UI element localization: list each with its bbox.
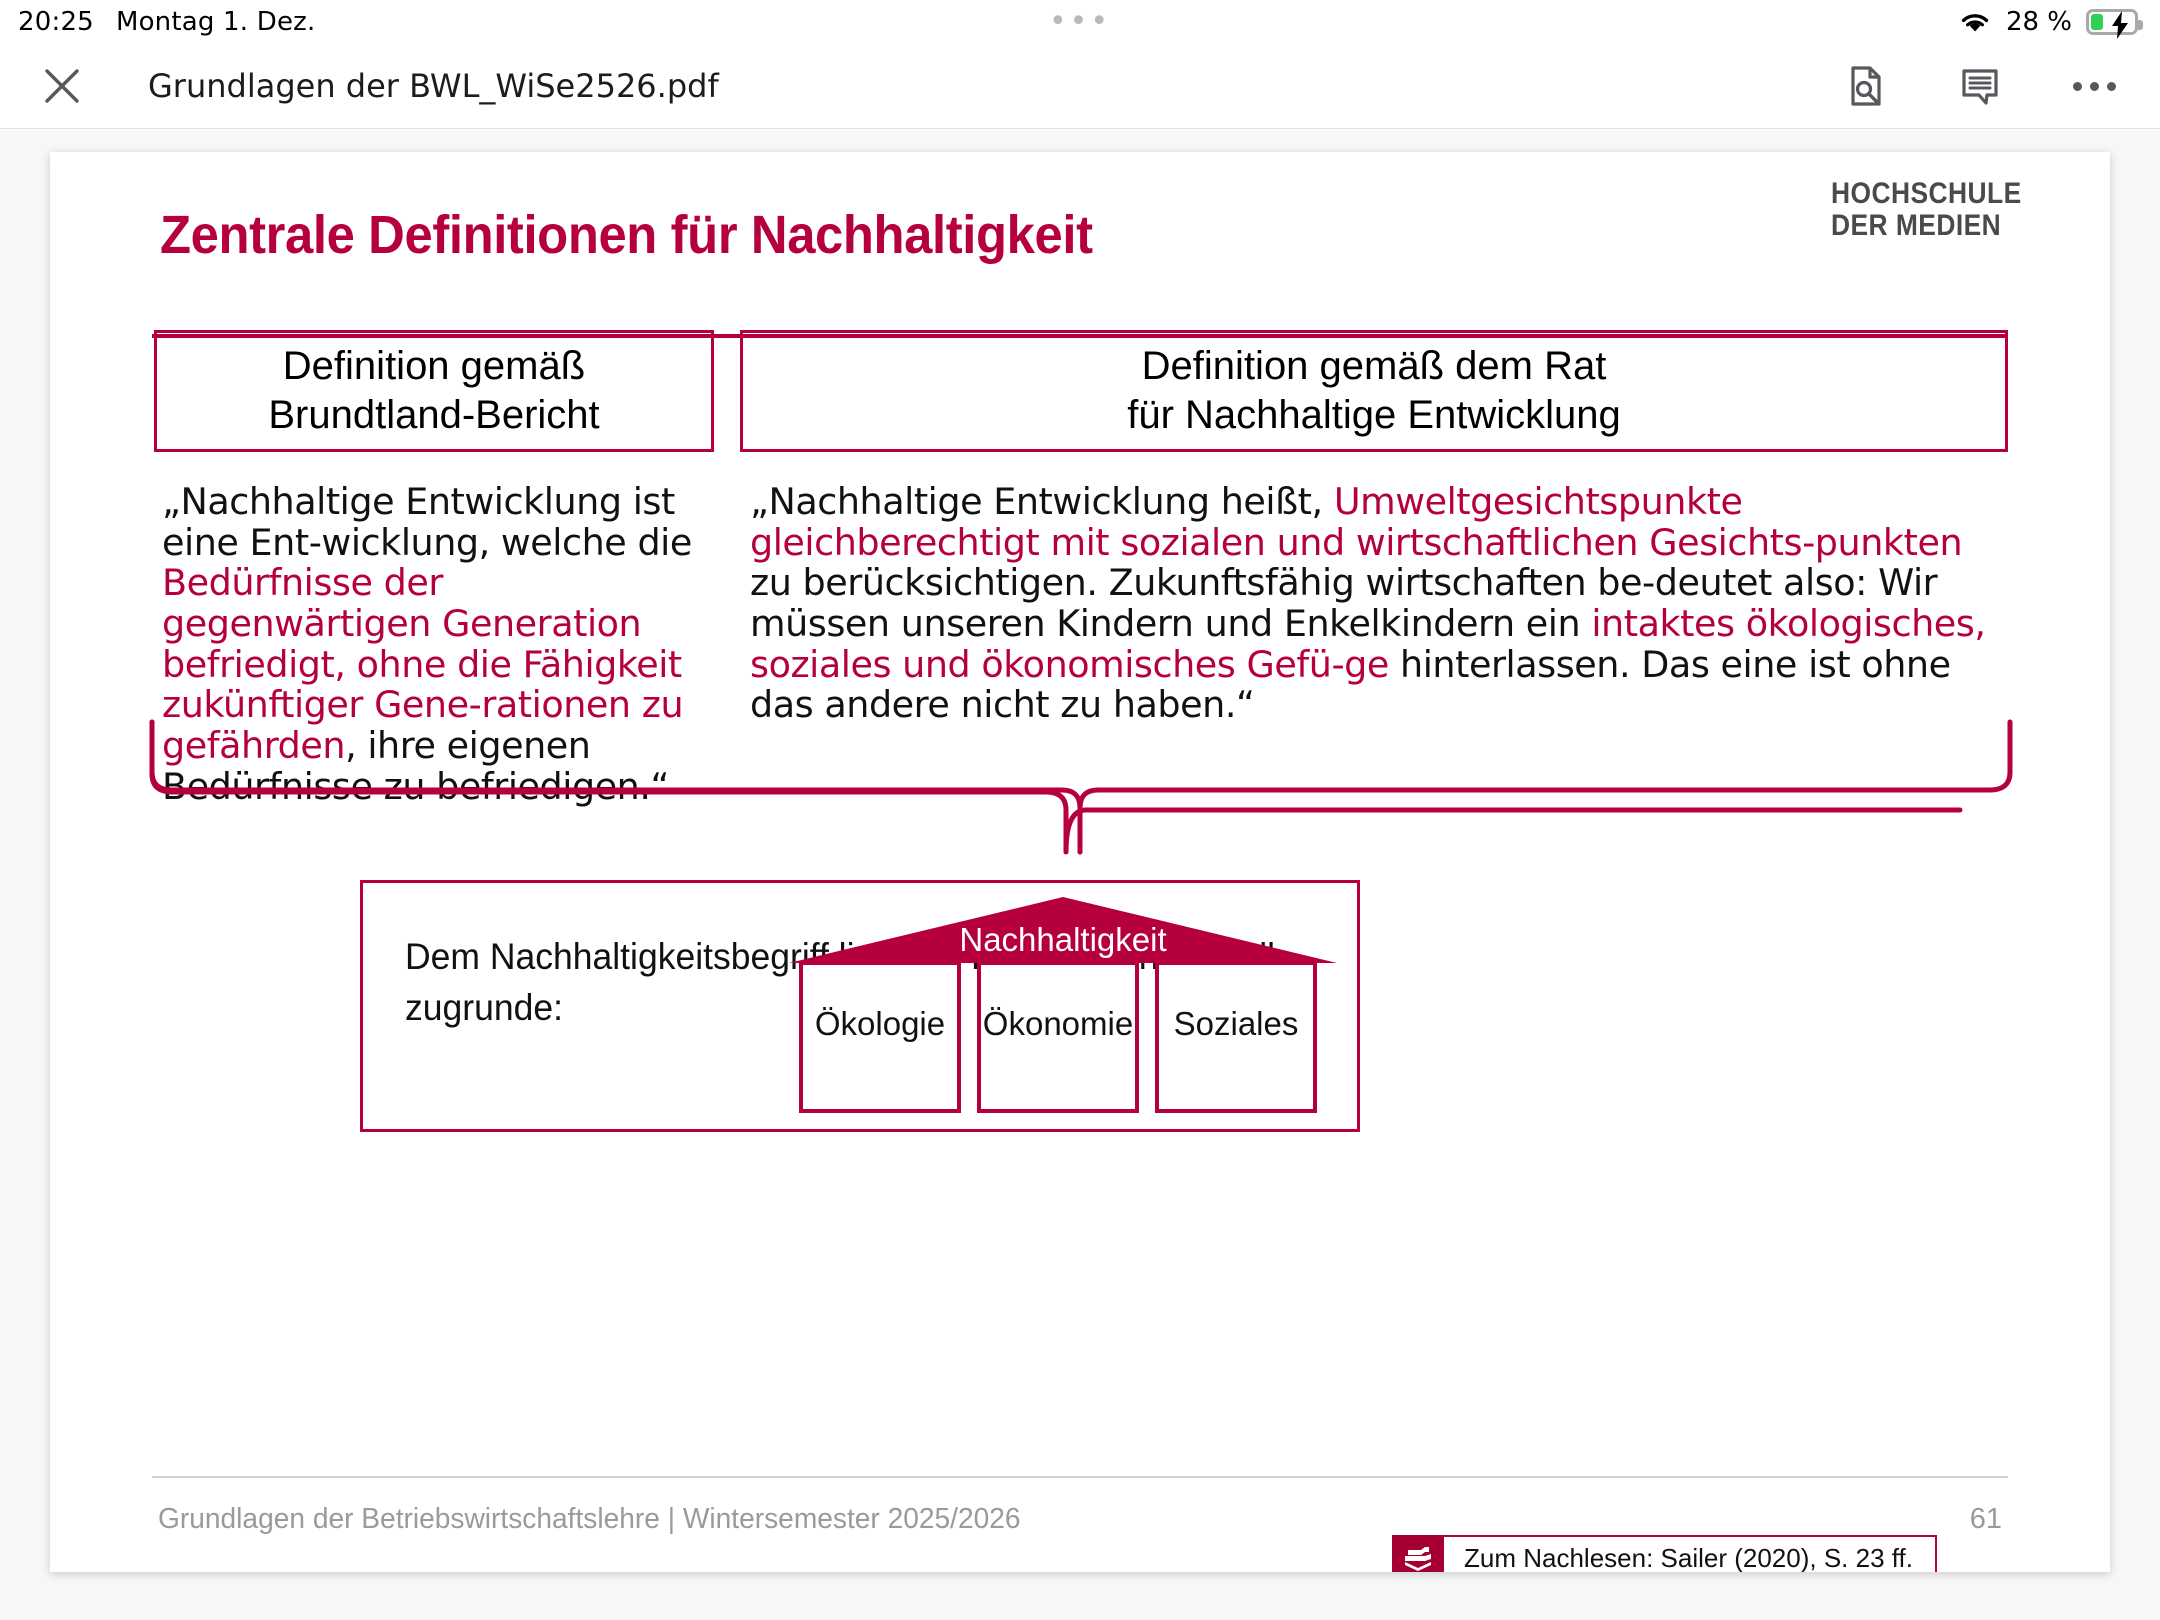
definition-header-rat: Definition gemäß dem Rat für Nachhaltige… <box>740 330 2008 452</box>
quote-left-seg-0: „Nachhaltige Entwicklung ist eine Ent-wi… <box>162 480 692 564</box>
footer-page-number: 61 <box>1970 1503 2002 1536</box>
hdm-logo-line2: DER MEDIEN <box>1831 210 2022 242</box>
definition-header-brundtland: Definition gemäß Brundtland-Bericht <box>154 330 714 452</box>
battery-fill <box>2091 14 2103 30</box>
status-bar-right: 28 % <box>1958 7 2138 37</box>
quote-right-seg-0: „Nachhaltige Entwicklung heißt, <box>750 480 1334 523</box>
pillar-label-soziales: Soziales <box>1157 1005 1315 1043</box>
drei-saeulen-model-box: Dem Nachhaltigkeitsbegriff liegt ein Dre… <box>360 880 1360 1132</box>
defbox-right-line1: Definition gemäß dem Rat <box>1142 344 1607 388</box>
citation-text: Zum Nachlesen: Sailer (2020), S. 23 ff. <box>1444 1535 1937 1572</box>
pdf-viewer-header: Grundlagen der BWL_WiSe2526.pdf <box>0 44 2160 129</box>
pillar-label-oekologie: Ökologie <box>801 1005 959 1043</box>
document-search-icon <box>1844 64 1888 108</box>
pdf-page-scroll-area[interactable]: HOCHSCHULE DER MEDIEN Zentrale Definitio… <box>0 130 2160 1620</box>
more-options-icon <box>2073 82 2116 91</box>
battery-charging-icon <box>2086 9 2138 35</box>
header-toolbar <box>1842 62 2118 110</box>
wifi-icon <box>1958 9 1992 35</box>
more-options-button[interactable] <box>2070 62 2118 110</box>
slide-title: Zentrale Definitionen für Nachhaltigkeit <box>160 204 1093 266</box>
ios-status-bar: 20:25 Montag 1. Dez. ••• 28 % <box>0 0 2160 44</box>
battery-percent-label: 28 % <box>2006 7 2072 37</box>
footer-divider <box>152 1476 2008 1478</box>
close-icon <box>41 65 83 107</box>
comment-button[interactable] <box>1956 62 2004 110</box>
close-button[interactable] <box>38 62 86 110</box>
defbox-left-line2: Brundtland-Bericht <box>268 393 599 437</box>
defbox-right-line2: für Nachhaltige Entwicklung <box>1127 393 1621 437</box>
footer-course-label: Grundlagen der Betriebswirtschaftslehre … <box>158 1503 1021 1536</box>
quote-brundtland: „Nachhaltige Entwicklung ist eine Ent-wi… <box>162 482 722 808</box>
pdf-slide-page: HOCHSCHULE DER MEDIEN Zentrale Definitio… <box>50 152 2110 1572</box>
roof-label-nachhaltigkeit: Nachhaltigkeit <box>783 921 1343 959</box>
document-title: Grundlagen der BWL_WiSe2526.pdf <box>148 67 719 105</box>
quote-rat: „Nachhaltige Entwicklung heißt, Umweltge… <box>750 482 2010 726</box>
citation-badge: Zum Nachlesen: Sailer (2020), S. 23 ff. <box>1392 1535 1937 1572</box>
hdm-logo-line1: HOCHSCHULE <box>1831 178 2022 210</box>
status-bar-handle-dots[interactable]: ••• <box>0 7 2160 37</box>
comment-icon <box>1958 64 2002 108</box>
books-icon <box>1392 1535 1444 1572</box>
defbox-left-line1: Definition gemäß <box>283 344 585 388</box>
hdm-logo: HOCHSCHULE DER MEDIEN <box>1831 178 2022 243</box>
document-search-button[interactable] <box>1842 62 1890 110</box>
pillar-label-oekonomie: Ökonomie <box>979 1005 1137 1043</box>
